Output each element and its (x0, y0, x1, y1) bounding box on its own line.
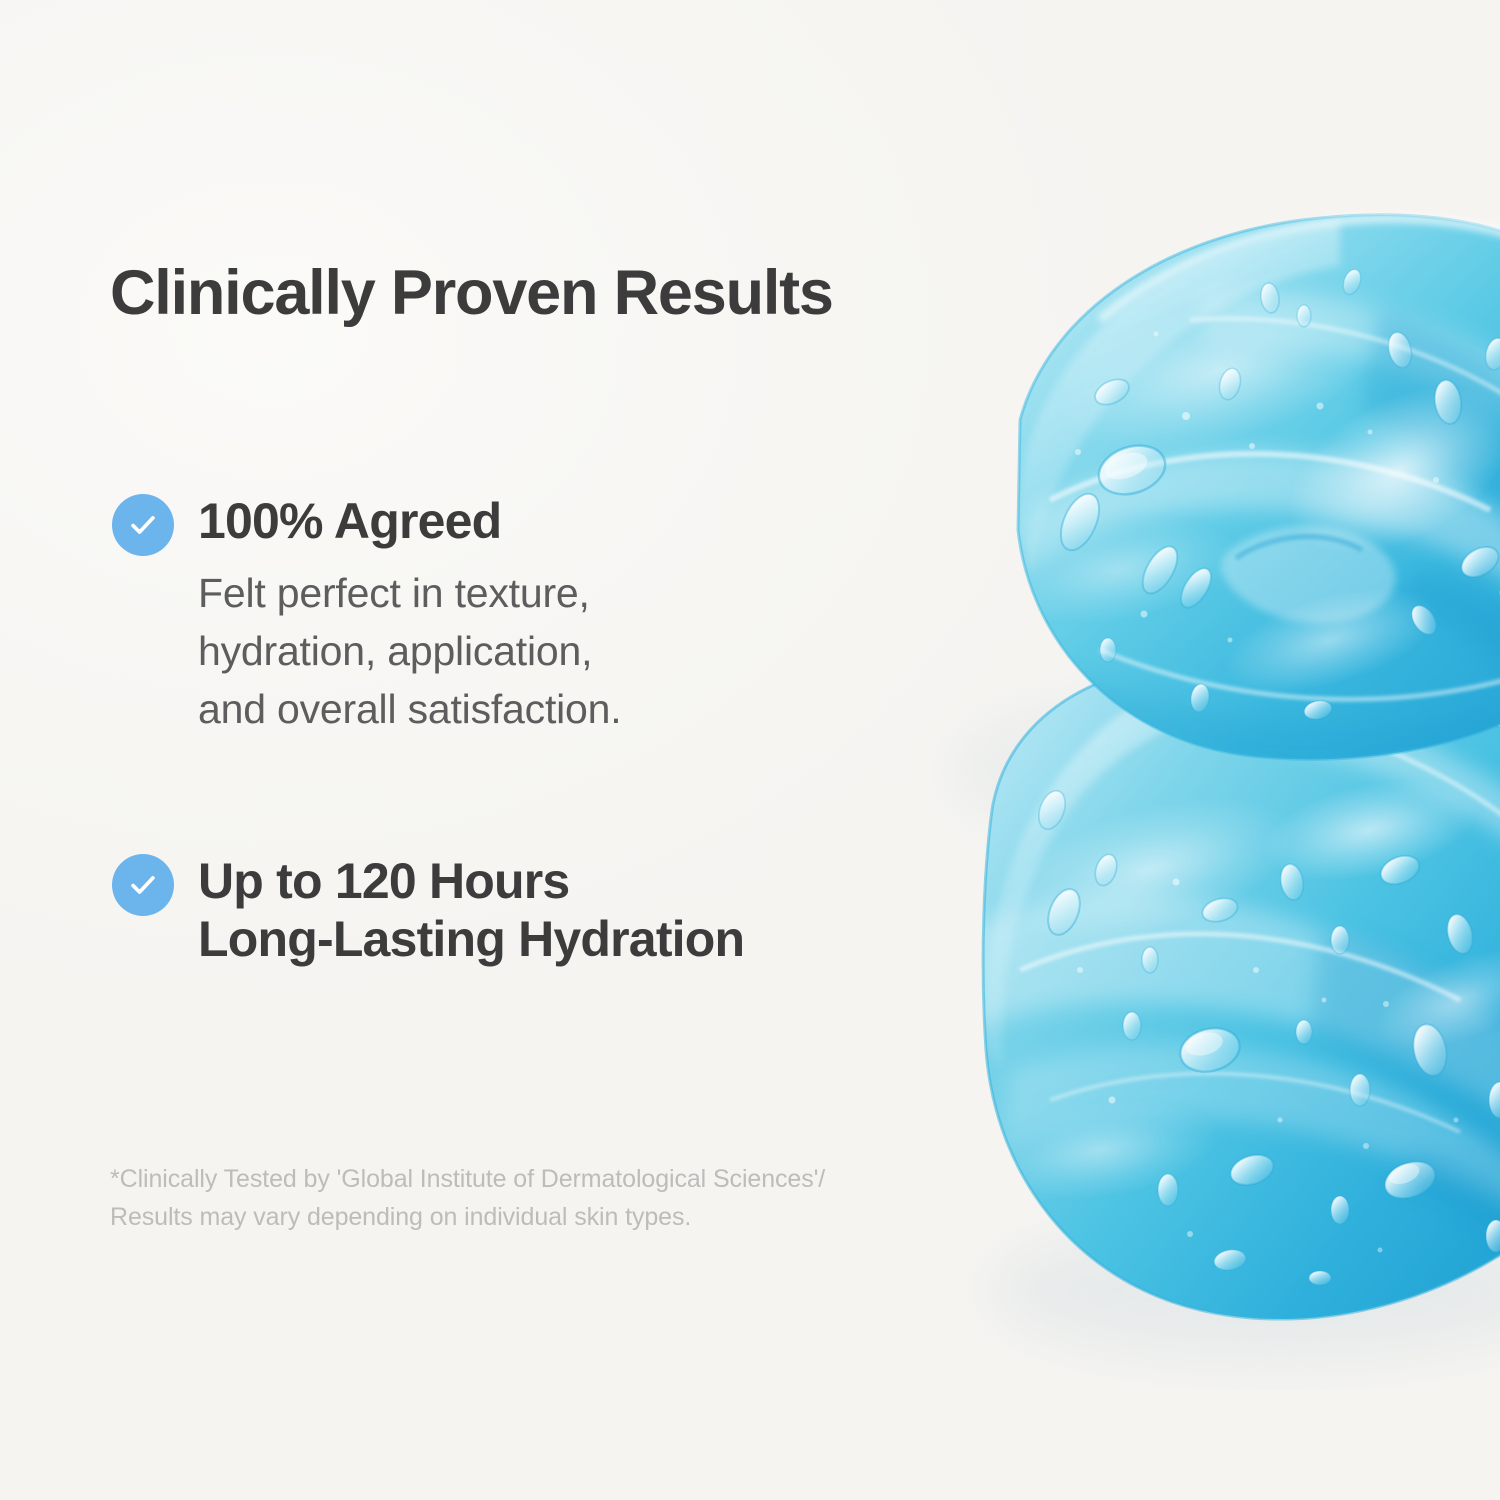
claim-heading: 100% Agreed (198, 492, 968, 550)
text-column: Clinically Proven Results 100% Agreed Fe… (108, 0, 988, 1500)
claim-description: Felt perfect in texture, hydration, appl… (198, 564, 968, 739)
page-title: Clinically Proven Results (110, 262, 833, 325)
claim-heading: Up to 120 Hours Long-Lasting Hydration (198, 852, 968, 968)
disclaimer-text: *Clinically Tested by 'Global Institute … (110, 1160, 950, 1236)
claim-item-hydration: Up to 120 Hours Long-Lasting Hydration (108, 852, 968, 968)
claim-item-agreed: 100% Agreed Felt perfect in texture, hyd… (108, 492, 968, 739)
check-circle-icon (112, 854, 174, 916)
promo-canvas: Clinically Proven Results 100% Agreed Fe… (0, 0, 1500, 1500)
check-circle-icon (112, 494, 174, 556)
blue-gel-serum-swatch (900, 170, 1500, 1390)
